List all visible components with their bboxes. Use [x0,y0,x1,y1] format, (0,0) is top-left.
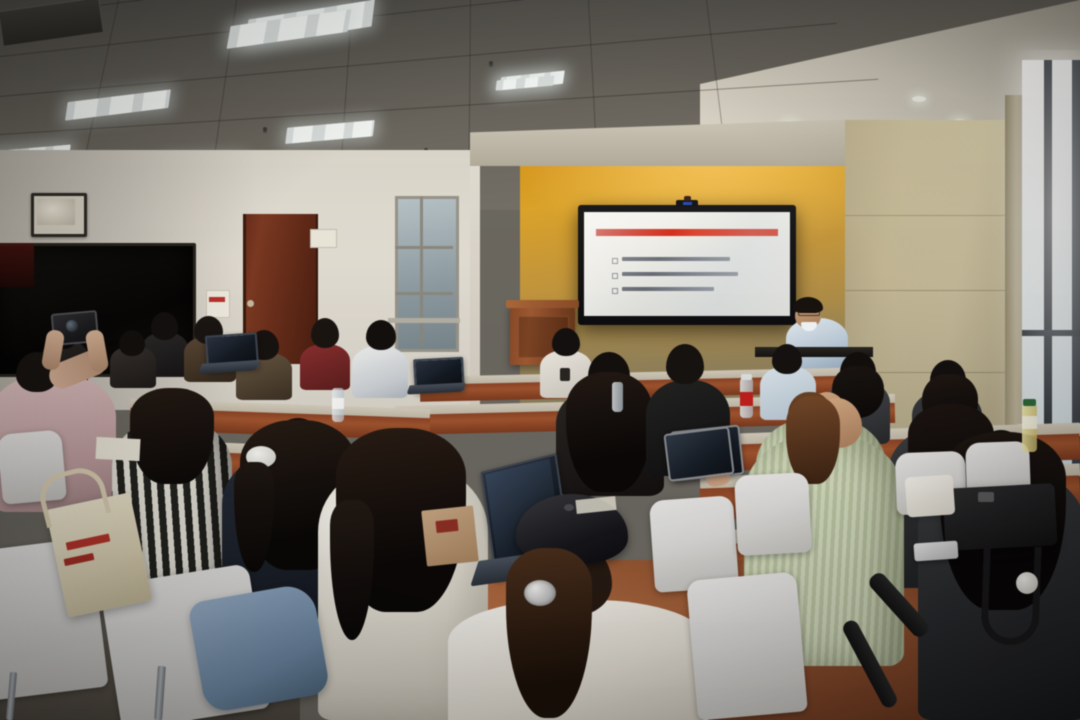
paper-sheet [95,437,140,461]
chair[interactable] [734,472,812,556]
window-light-bloom [1000,50,1080,450]
bottle-label [332,398,344,409]
screen-glare [584,212,790,316]
audience-torso [352,346,408,398]
presenter-glasses-icon [798,310,820,316]
bottle-cap [741,374,752,380]
door-handle[interactable] [247,300,254,307]
window-mullion [395,246,453,249]
blackboard-red-edge [0,243,34,287]
bag-strap [980,545,1041,646]
window-mullion [420,196,423,346]
audience-head [552,328,580,356]
audience-head [119,330,145,356]
window-middle [395,196,459,352]
audience-head [151,312,178,340]
hair-tie-beaded [524,580,556,606]
beret-button [564,504,574,511]
paper-bag-logo [435,519,458,533]
audience-head [311,318,339,348]
long-hair [130,388,214,484]
lectern-top [506,300,579,308]
bottle-label [1022,416,1037,429]
bag-buckle-icon [978,492,994,502]
audience-head [666,344,704,384]
tissue-pack [905,474,956,517]
water-bottle[interactable] [612,382,623,412]
long-hair [566,372,652,492]
sprinkler-head [489,61,493,65]
ponytail [786,396,840,484]
audience-torso [300,344,350,390]
wall-clock-face [37,199,75,225]
denim-jacket [187,582,331,714]
r-shirt-print [560,368,570,381]
chair[interactable] [686,571,808,720]
window-rail [388,318,460,323]
tablet-device[interactable] [663,426,734,482]
wall-notice-sign [206,290,230,318]
window-mullion [395,292,453,295]
smartphone[interactable] [913,540,958,561]
ceiling-downlight [912,96,926,102]
webcam-lens-icon [684,196,691,201]
handbag[interactable] [942,483,1057,551]
bottle-label-red [740,392,753,406]
audience-head [772,344,802,374]
audience-head [366,320,396,350]
bag-charm [1016,572,1038,594]
door-paper-sign [310,229,337,248]
sprinkler-head [263,127,267,131]
webcam-indicator-icon [683,202,692,205]
wall-notice-sign-accent [209,297,225,302]
paper-bag [421,505,479,566]
photo-scene [0,0,1080,720]
bottle-cap [1023,399,1036,406]
